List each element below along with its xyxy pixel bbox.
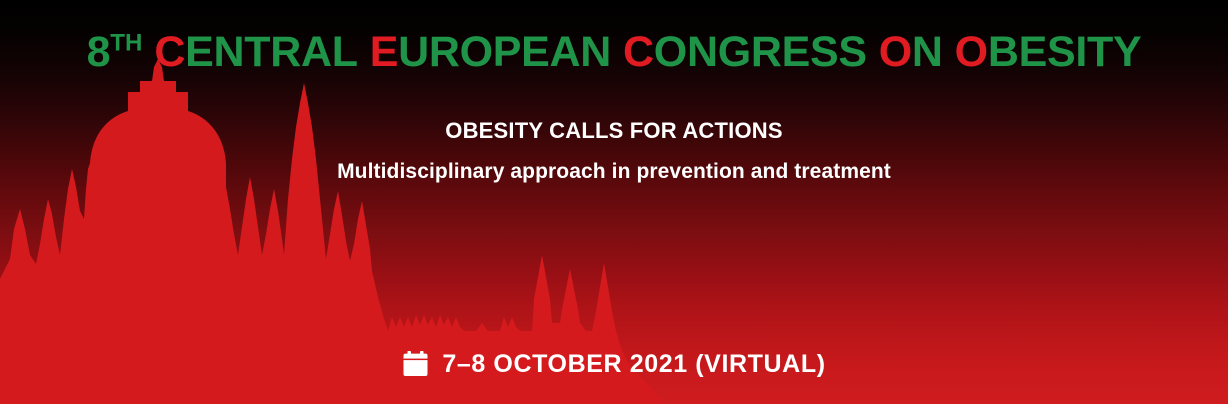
calendar-icon bbox=[402, 351, 429, 377]
title-part-c2: C bbox=[623, 28, 654, 76]
title-part-c1: C bbox=[154, 28, 185, 76]
subtitle-primary: OBESITY CALLS FOR ACTIONS bbox=[0, 118, 1228, 144]
title-part-n: N bbox=[912, 28, 943, 76]
title-part-entral: ENTRAL bbox=[185, 28, 358, 76]
title-part-8: 8 bbox=[87, 28, 111, 76]
title-part-ongress: ONGRESS bbox=[654, 28, 867, 76]
title-part-uropean: UROPEAN bbox=[398, 28, 611, 76]
title-part-besity: BESITY bbox=[988, 28, 1142, 76]
title-part-e: E bbox=[370, 28, 398, 76]
page-title: 8THCENTRALEUROPEANCONGRESSONOBESITY bbox=[0, 31, 1228, 74]
title-part-o2: O bbox=[955, 28, 988, 76]
event-date-row: 7–8 OCTOBER 2021 (VIRTUAL) bbox=[0, 351, 1228, 377]
event-date-text: 7–8 OCTOBER 2021 (VIRTUAL) bbox=[442, 352, 825, 377]
subtitle-secondary: Multidisciplinary approach in prevention… bbox=[0, 160, 1228, 184]
title-part-o1: O bbox=[879, 28, 912, 76]
congress-banner: 8THCENTRALEUROPEANCONGRESSONOBESITY OBES… bbox=[0, 0, 1228, 404]
title-part-th: TH bbox=[110, 30, 142, 57]
